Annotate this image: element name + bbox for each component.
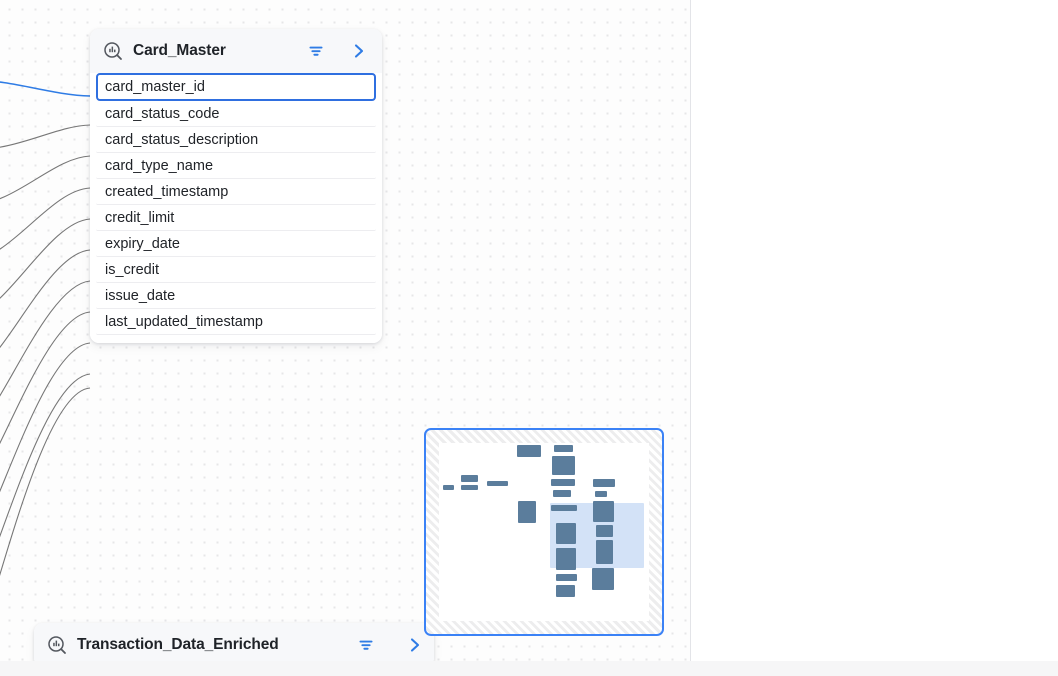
minimap-node: [443, 485, 454, 490]
chevron-right-icon[interactable]: [350, 42, 368, 60]
minimap-node: [596, 540, 613, 564]
highlighted-edge: [0, 80, 90, 96]
minimap-node: [551, 505, 577, 511]
column-list: card_master_id card_status_code card_sta…: [90, 73, 382, 343]
minimap-node: [518, 501, 536, 523]
chevron-right-icon[interactable]: [406, 636, 424, 654]
table-node-card-master[interactable]: Card_Master card_master_id card_sta: [90, 29, 382, 343]
magnifier-bars-icon[interactable]: [47, 635, 67, 655]
minimap-node: [553, 490, 571, 497]
column-row[interactable]: issue_date: [96, 283, 376, 309]
minimap-node: [556, 574, 577, 581]
minimap-node: [595, 491, 607, 497]
minimap-node: [556, 548, 576, 570]
lineage-explorer-screen: Card_Master card_master_id card_sta: [0, 0, 1058, 676]
bottom-strip: [0, 661, 1058, 676]
column-row[interactable]: last_updated_timestamp: [96, 309, 376, 335]
column-row[interactable]: is_credit: [96, 257, 376, 283]
minimap-content: [439, 443, 649, 621]
minimap-node: [552, 456, 575, 475]
column-row[interactable]: card_status_description: [96, 127, 376, 153]
minimap-node: [596, 525, 613, 537]
column-row[interactable]: created_timestamp: [96, 179, 376, 205]
lineage-minimap[interactable]: [424, 428, 664, 636]
lineage-canvas[interactable]: Card_Master card_master_id card_sta: [0, 0, 690, 661]
node-title: Transaction_Data_Enriched: [77, 636, 346, 654]
minimap-node: [517, 445, 541, 457]
minimap-node: [593, 479, 615, 487]
minimap-node: [592, 568, 614, 590]
minimap-node: [556, 585, 575, 597]
column-row-selected[interactable]: card_master_id: [96, 73, 376, 101]
table-node-transaction-data-enriched[interactable]: Transaction_Data_Enriched: [34, 623, 434, 661]
filter-icon[interactable]: [356, 635, 376, 655]
minimap-node: [487, 481, 508, 486]
node-header[interactable]: Transaction_Data_Enriched: [34, 623, 434, 661]
minimap-node: [554, 445, 573, 452]
filter-icon[interactable]: [306, 41, 326, 61]
minimap-node: [556, 523, 576, 544]
column-row[interactable]: card_type_name: [96, 153, 376, 179]
column-row[interactable]: card_status_code: [96, 101, 376, 127]
node-title: Card_Master: [133, 42, 296, 60]
minimap-node: [461, 475, 478, 482]
column-row[interactable]: expiry_date: [96, 231, 376, 257]
minimap-node: [593, 501, 614, 522]
magnifier-bars-icon[interactable]: [103, 41, 123, 61]
node-header[interactable]: Card_Master: [90, 29, 382, 73]
right-panel: Visualize Lineage: [691, 0, 1058, 661]
column-row[interactable]: credit_limit: [96, 205, 376, 231]
minimap-node: [551, 479, 575, 486]
minimap-node: [461, 485, 478, 490]
